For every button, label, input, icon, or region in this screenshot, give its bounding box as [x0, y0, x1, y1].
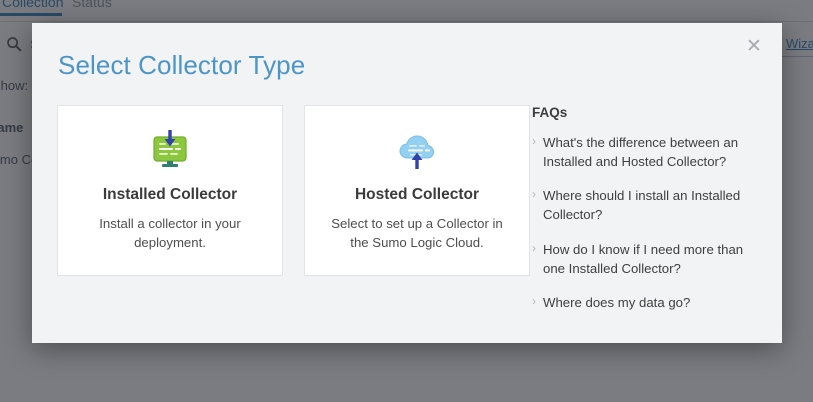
collector-card-installed[interactable]: Installed Collector Install a collector … — [57, 105, 283, 276]
faq-item-label: Where should I install an Installed Coll… — [543, 186, 760, 224]
faq-item[interactable]: › How do I know if I need more than one … — [532, 240, 760, 278]
chevron-right-icon: › — [532, 293, 536, 310]
faq-item-label: What's the difference between an Install… — [543, 133, 760, 171]
chevron-right-icon: › — [532, 133, 536, 150]
close-icon[interactable]: ✕ — [742, 35, 766, 59]
collector-card-hosted-title: Hosted Collector — [355, 186, 479, 204]
installed-collector-monitor-download-icon — [147, 128, 193, 174]
collector-type-card-list: Installed Collector Install a collector … — [57, 105, 530, 276]
collector-card-hosted[interactable]: Hosted Collector Select to set up a Coll… — [304, 105, 530, 276]
chevron-right-icon: › — [532, 240, 536, 257]
collector-card-installed-description: Install a collector in your deployment. — [81, 215, 259, 252]
faq-item[interactable]: › Where does my data go? — [532, 293, 760, 312]
faq-item[interactable]: › What's the difference between an Insta… — [532, 133, 760, 171]
faq-section: FAQs › What's the difference between an … — [532, 105, 760, 327]
faq-item[interactable]: › Where should I install an Installed Co… — [532, 186, 760, 224]
faq-item-label: How do I know if I need more than one In… — [543, 240, 760, 278]
hosted-collector-cloud-upload-icon — [394, 128, 440, 174]
chevron-right-icon: › — [532, 186, 536, 203]
screen: Collection Status Search Show: All Name … — [0, 0, 813, 402]
faq-heading: FAQs — [532, 105, 760, 120]
collector-card-installed-title: Installed Collector — [103, 186, 237, 204]
collector-card-hosted-description: Select to set up a Collector in the Sumo… — [328, 215, 506, 252]
page-title: Select Collector Type — [58, 50, 305, 81]
faq-item-label: Where does my data go? — [543, 293, 690, 312]
select-collector-type-dialog: ✕ Select Collector Type — [32, 23, 782, 343]
